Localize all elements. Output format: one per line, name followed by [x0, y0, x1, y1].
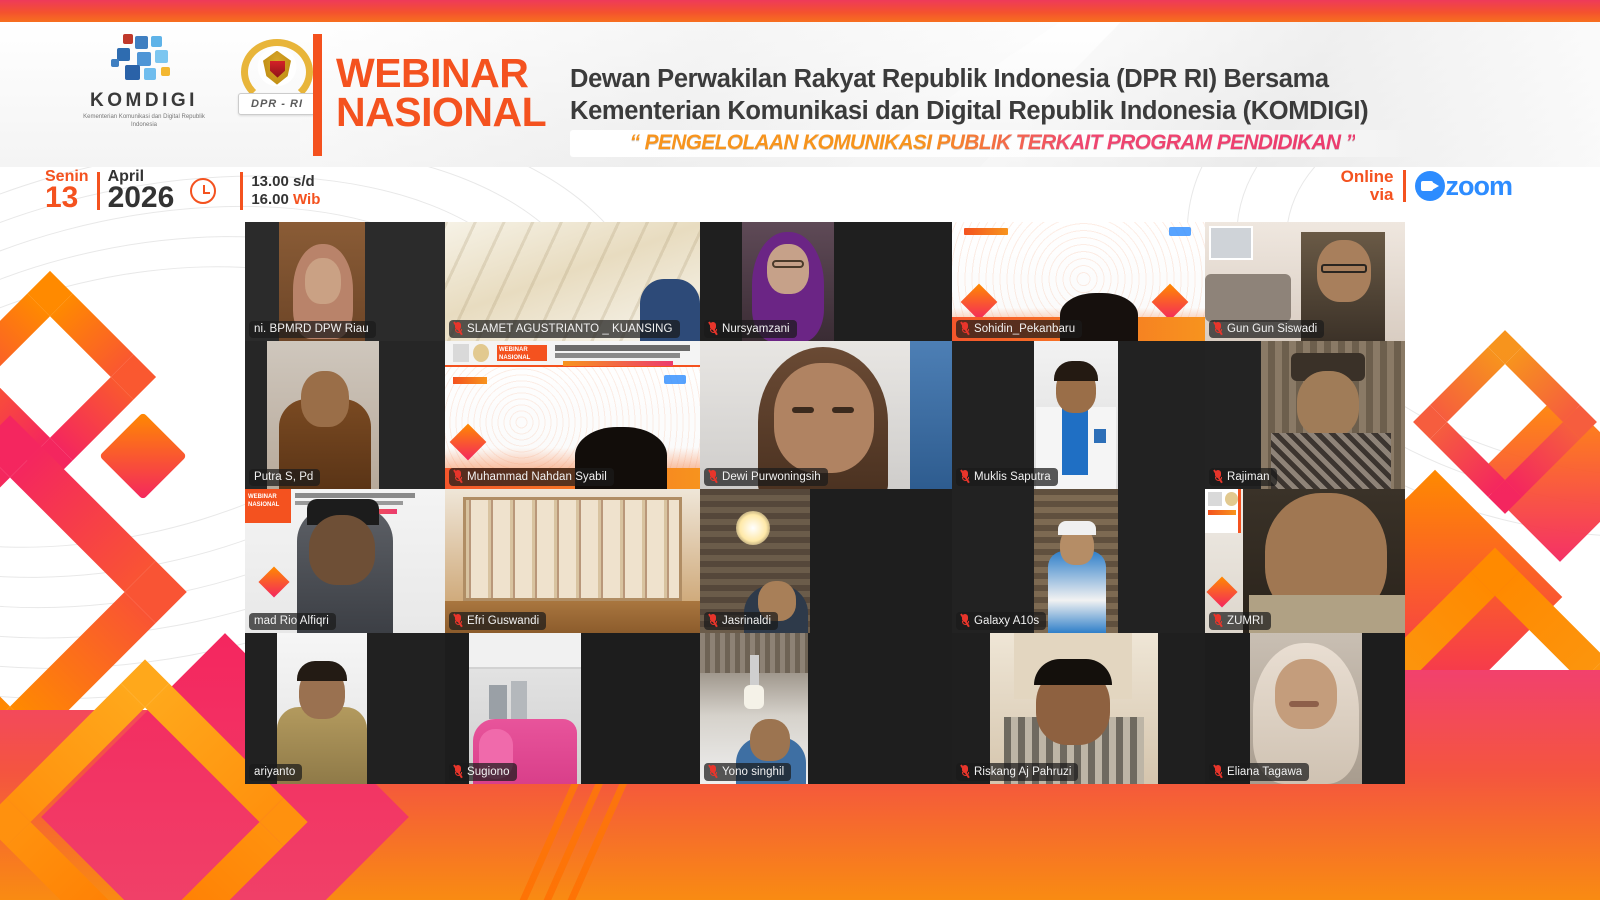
dpr-ri-logo: DPR - RI: [236, 37, 318, 127]
microphone-muted-icon: [961, 322, 969, 335]
webinar-heading: WEBINAR NASIONAL: [336, 54, 546, 133]
participant-name-badge: Riskang Aj Pahruzi: [956, 763, 1078, 781]
webinar-heading-line1: WEBINAR: [336, 54, 546, 93]
participant-tile[interactable]: Muklis Saputra: [952, 341, 1205, 489]
participant-name: Sohidin_Pekanbaru: [974, 323, 1075, 335]
zoom-participant-grid[interactable]: ni. BPMRD DPW Riau SLAMET AGUSTRIANTO _ …: [245, 222, 1405, 784]
date-separator: [97, 172, 100, 210]
participant-name: Sugiono: [467, 766, 510, 778]
microphone-muted-icon: [961, 765, 969, 778]
participant-tile[interactable]: Putra S, Pd: [245, 341, 445, 489]
participant-name-badge: Eliana Tagawa: [1209, 763, 1309, 781]
microphone-muted-icon: [1214, 614, 1222, 627]
participant-tile[interactable]: ni. BPMRD DPW Riau: [245, 222, 445, 341]
zoom-camera-icon: [1415, 171, 1445, 201]
participant-tile[interactable]: Efri Guswandi: [445, 489, 700, 633]
participant-name: Putra S, Pd: [254, 471, 313, 483]
dpr-ri-ribbon-label: DPR - RI: [238, 93, 316, 115]
participant-tile[interactable]: Riskang Aj Pahruzi: [952, 633, 1205, 784]
participant-name-badge: Dewi Purwoningsih: [704, 468, 828, 486]
participant-tile[interactable]: Sohidin_Pekanbaru: [952, 222, 1205, 341]
microphone-muted-icon: [709, 470, 717, 483]
microphone-muted-icon: [709, 614, 717, 627]
participant-name-badge: Yono singhil: [704, 763, 791, 781]
participant-name: Yono singhil: [722, 766, 784, 778]
participant-tile[interactable]: Eliana Tagawa: [1205, 633, 1405, 784]
time-zone-label: Wib: [293, 191, 320, 208]
microphone-muted-icon: [709, 765, 717, 778]
time-end-value: 16.00: [251, 191, 289, 208]
participant-name-badge: Jasrinaldi: [704, 612, 778, 630]
microphone-muted-icon: [454, 470, 462, 483]
microphone-muted-icon: [709, 322, 717, 335]
participant-name-badge: Sohidin_Pekanbaru: [956, 320, 1082, 338]
participant-tile[interactable]: Gun Gun Siswadi: [1205, 222, 1405, 341]
event-subtitle: “ PENGELOLAAN KOMUNIKASI PUBLIK TERKAIT …: [630, 131, 1356, 154]
participant-name: Rajiman: [1227, 471, 1270, 483]
participant-name-badge: Efri Guswandi: [449, 612, 546, 630]
participant-name-badge: Putra S, Pd: [249, 469, 320, 486]
event-title-line2: Kementerian Komunikasi dan Digital Repub…: [570, 96, 1485, 128]
microphone-muted-icon: [454, 614, 462, 627]
header-divider: [313, 34, 322, 156]
participant-name: ariyanto: [254, 766, 295, 778]
day-number: 13: [45, 183, 78, 213]
participant-name-badge: ni. BPMRD DPW Riau: [249, 321, 376, 338]
online-via-zoom: Online via zoom: [1341, 168, 1512, 205]
participant-tile[interactable]: WEBINARNASIONAL Muhammad Nahdan Syabil: [445, 341, 700, 489]
time-block: 13.00 s/d 16.00 Wib: [251, 173, 320, 210]
participant-tile[interactable]: Yono singhil: [700, 633, 952, 784]
top-accent-bar: [0, 0, 1600, 22]
participant-name-badge: Rajiman: [1209, 468, 1277, 486]
participant-name: Gun Gun Siswadi: [1227, 323, 1317, 335]
date-day-block: Senin 13: [45, 169, 89, 213]
via-label: via: [1370, 186, 1394, 204]
participant-tile[interactable]: Nursyamzani: [700, 222, 952, 341]
time-separator: [240, 172, 243, 210]
komdigi-mark-icon: [107, 34, 181, 86]
participant-tile[interactable]: SLAMET AGUSTRIANTO _ KUANSING: [445, 222, 700, 341]
event-title-block: Dewan Perwakilan Rakyat Republik Indones…: [570, 64, 1485, 157]
participant-name-badge: Nursyamzani: [704, 320, 797, 338]
time-end: 16.00 Wib: [251, 191, 320, 209]
microphone-muted-icon: [454, 322, 462, 335]
participant-name-badge: Sugiono: [449, 763, 517, 781]
participant-name-badge: Galaxy A10s: [956, 612, 1046, 630]
webinar-heading-line2: NASIONAL: [336, 93, 546, 132]
zoom-logo: zoom: [1415, 171, 1513, 202]
participant-name: mad Rio Alfiqri: [254, 615, 329, 627]
microphone-muted-icon: [961, 614, 969, 627]
participant-name: Galaxy A10s: [974, 615, 1039, 627]
participant-tile[interactable]: WEBINASI ZUMRI: [1205, 489, 1405, 633]
logo-group: KOMDIGI Kementerian Komunikasi dan Digit…: [78, 34, 318, 129]
participant-tile[interactable]: Rajiman: [1205, 341, 1405, 489]
participant-tile[interactable]: ariyanto: [245, 633, 445, 784]
zoom-wordmark: zoom: [1446, 171, 1513, 202]
clock-icon: [190, 178, 216, 204]
microphone-muted-icon: [1214, 470, 1222, 483]
participant-tile[interactable]: WEBINARNASIONAL mad Rio Alfiqri: [245, 489, 445, 633]
participant-name-badge: SLAMET AGUSTRIANTO _ KUANSING: [449, 320, 680, 338]
year-number: 2026: [108, 183, 175, 213]
participant-name: Muhammad Nahdan Syabil: [467, 471, 607, 483]
time-start: 13.00 s/d: [251, 173, 320, 191]
participant-name: Dewi Purwoningsih: [722, 471, 821, 483]
date-time-strip: Senin 13 April 2026 13.00 s/d 16.00 Wib: [45, 168, 320, 214]
participant-name: Efri Guswandi: [467, 615, 539, 627]
date-month-block: April 2026: [108, 169, 175, 213]
participant-name: SLAMET AGUSTRIANTO _ KUANSING: [467, 323, 673, 335]
participant-tile[interactable]: Jasrinaldi: [700, 489, 952, 633]
microphone-muted-icon: [1214, 765, 1222, 778]
participant-name: ZUMRI: [1227, 615, 1264, 627]
participant-name: Nursyamzani: [722, 323, 790, 335]
participant-name-badge: mad Rio Alfiqri: [249, 613, 336, 630]
participant-name-badge: Muklis Saputra: [956, 468, 1058, 486]
participant-name-badge: ZUMRI: [1209, 612, 1271, 630]
microphone-muted-icon: [961, 470, 969, 483]
participant-name-badge: Gun Gun Siswadi: [1209, 320, 1324, 338]
participant-tile[interactable]: Galaxy A10s: [952, 489, 1205, 633]
participant-name: Eliana Tagawa: [1227, 766, 1302, 778]
online-via-divider: [1403, 170, 1406, 202]
participant-tile[interactable]: Dewi Purwoningsih: [700, 341, 952, 489]
webinar-header: KOMDIGI Kementerian Komunikasi dan Digit…: [0, 22, 1600, 167]
komdigi-logo: KOMDIGI Kementerian Komunikasi dan Digit…: [78, 34, 210, 129]
participant-tile[interactable]: Sugiono: [445, 633, 700, 784]
participant-name: Jasrinaldi: [722, 615, 771, 627]
participant-name-badge: Muhammad Nahdan Syabil: [449, 468, 614, 486]
komdigi-subtext: Kementerian Komunikasi dan Digital Repub…: [78, 113, 210, 129]
online-via-text: Online via: [1341, 168, 1394, 205]
komdigi-wordmark: KOMDIGI: [90, 91, 198, 110]
microphone-muted-icon: [1214, 322, 1222, 335]
microphone-muted-icon: [454, 765, 462, 778]
participant-name: ni. BPMRD DPW Riau: [254, 323, 369, 335]
online-label: Online: [1341, 168, 1394, 186]
participant-name: Riskang Aj Pahruzi: [974, 766, 1071, 778]
event-title-line1: Dewan Perwakilan Rakyat Republik Indones…: [570, 64, 1485, 96]
participant-name: Muklis Saputra: [974, 471, 1051, 483]
participant-name-badge: ariyanto: [249, 764, 302, 781]
event-subtitle-banner: “ PENGELOLAAN KOMUNIKASI PUBLIK TERKAIT …: [570, 130, 1415, 157]
